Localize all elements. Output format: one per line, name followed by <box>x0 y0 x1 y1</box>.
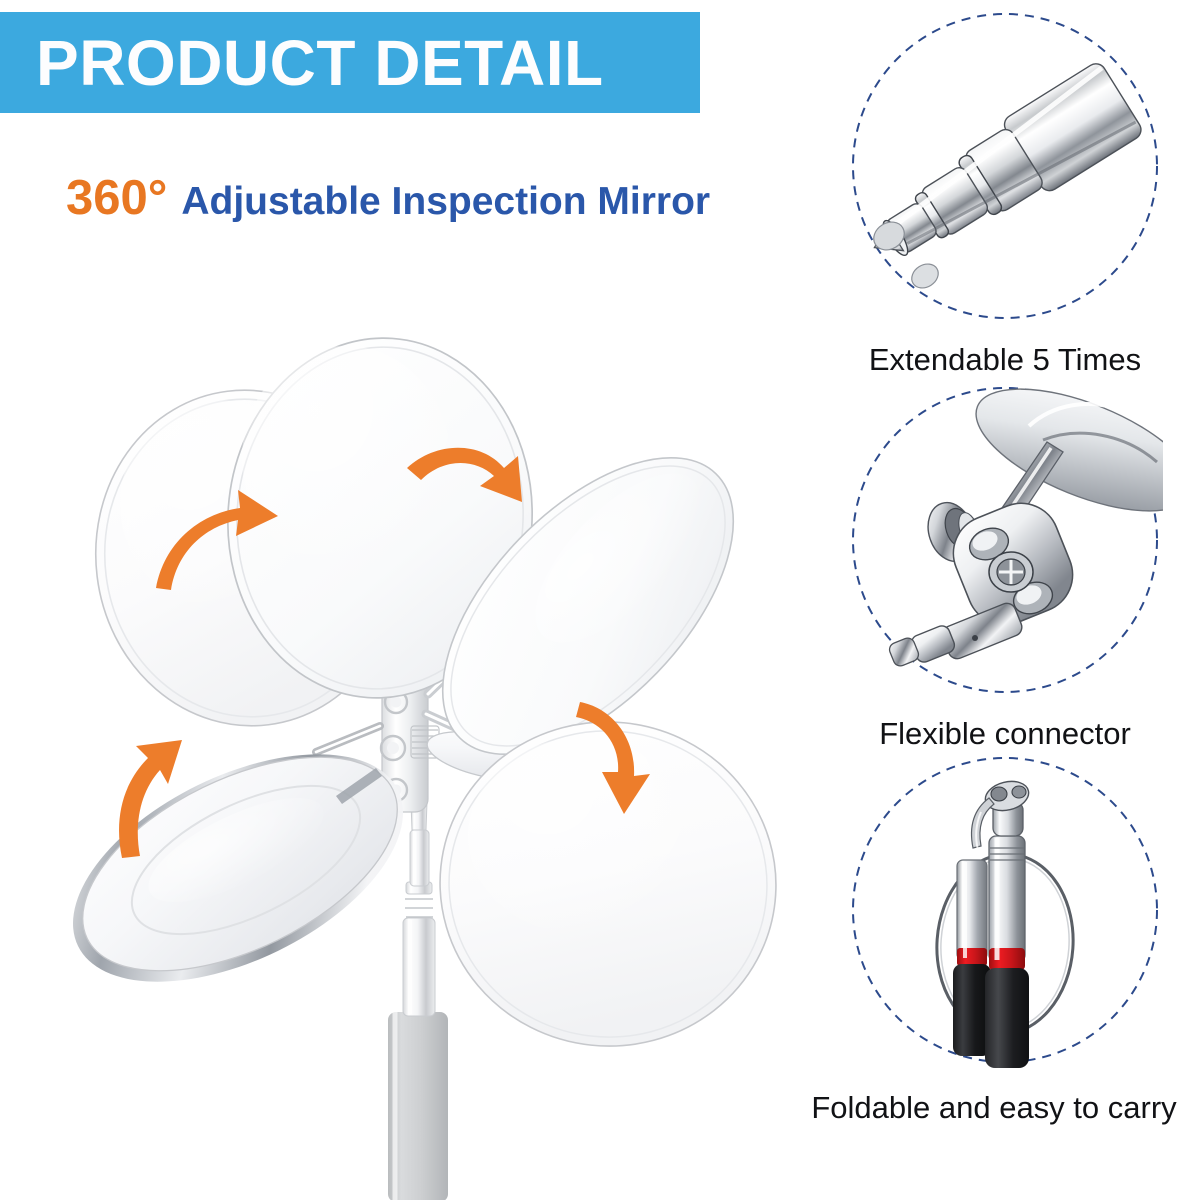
subtitle-degrees: 360° <box>66 170 167 226</box>
feature-card-extendable: Extendable 5 Times <box>810 8 1200 378</box>
subtitle-text: Adjustable Inspection Mirror <box>181 180 710 224</box>
feature-card-connector: Flexible connector <box>810 382 1200 752</box>
feature-caption: Foldable and easy to carry <box>788 1090 1200 1126</box>
subtitle: 360° Adjustable Inspection Mirror <box>66 170 710 226</box>
telescoping-handle <box>388 795 448 1200</box>
folded-mirror-tools-photo <box>847 752 1163 1068</box>
header-banner: PRODUCT DETAIL <box>0 12 700 113</box>
hero-illustration <box>40 290 820 1200</box>
mirror-position-lower-left <box>40 707 438 1028</box>
rod-segments <box>887 601 1024 668</box>
feature-card-foldable: Foldable and easy to carry <box>810 752 1200 1126</box>
feature-caption: Extendable 5 Times <box>810 342 1200 378</box>
feature-caption: Flexible connector <box>810 716 1200 752</box>
tool-front <box>985 823 1029 1068</box>
telescoping-rod-photo <box>847 8 1163 324</box>
swivel-joint-photo <box>847 382 1163 698</box>
page-title: PRODUCT DETAIL <box>36 31 604 95</box>
